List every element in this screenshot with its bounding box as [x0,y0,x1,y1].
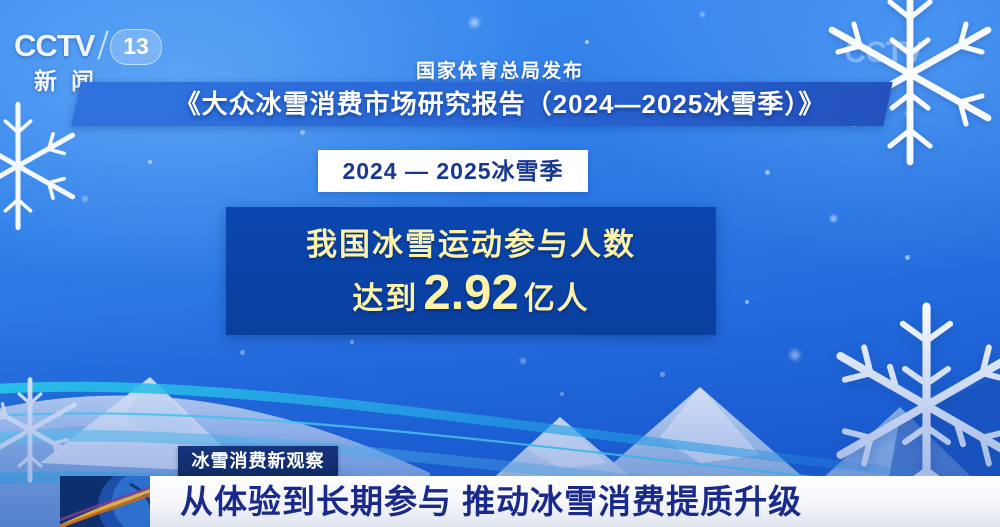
snow-particle [585,40,589,44]
snow-particle [660,372,665,377]
snow-particle [905,255,910,260]
report-title: 《大众冰雪消费市场研究报告（2024—2025冰雪季）》 [0,84,1000,124]
snow-particle [148,160,152,164]
season-badge-label: 2024 — 2025冰雪季 [318,150,588,192]
snow-particle [790,350,800,360]
snowflake-icon [0,370,90,490]
topic-tag: 冰雪消费新观察 [178,446,338,476]
stat-value-line: 达到2.92亿人 [226,265,716,321]
stat-value: 2.92 [423,266,518,320]
stat-description: 我国冰雪运动参与人数 [226,219,716,264]
snow-particle [240,350,245,355]
snow-particle [350,340,354,344]
topic-tag-label: 冰雪消费新观察 [178,446,338,476]
stat-prefix: 达到 [352,281,418,316]
kicker-text: 国家体育总局发布 [0,56,1000,83]
snow-particle [300,130,305,135]
snow-particle [830,215,837,222]
news-headline: 从体验到长期参与 推动冰雪消费提质升级 [150,476,1000,527]
snow-particle [700,12,705,17]
season-badge: 2024 — 2025冰雪季 [318,150,588,192]
news-ticker-bar: 从体验到长期参与 推动冰雪消费提质升级 [150,476,1000,527]
broadcast-screen: CCTV 13 新闻 CCTV 国家体育总局发布 《大众冰雪消费市场研究报告（2… [0,0,1000,527]
snow-particle [520,358,526,364]
snow-particle [470,18,479,27]
snow-particle [745,300,749,304]
stat-box: 我国冰雪运动参与人数 达到2.92亿人 [226,207,716,335]
stat-unit: 亿人 [524,281,590,316]
snow-particle [560,392,564,396]
snow-particle [765,170,770,175]
